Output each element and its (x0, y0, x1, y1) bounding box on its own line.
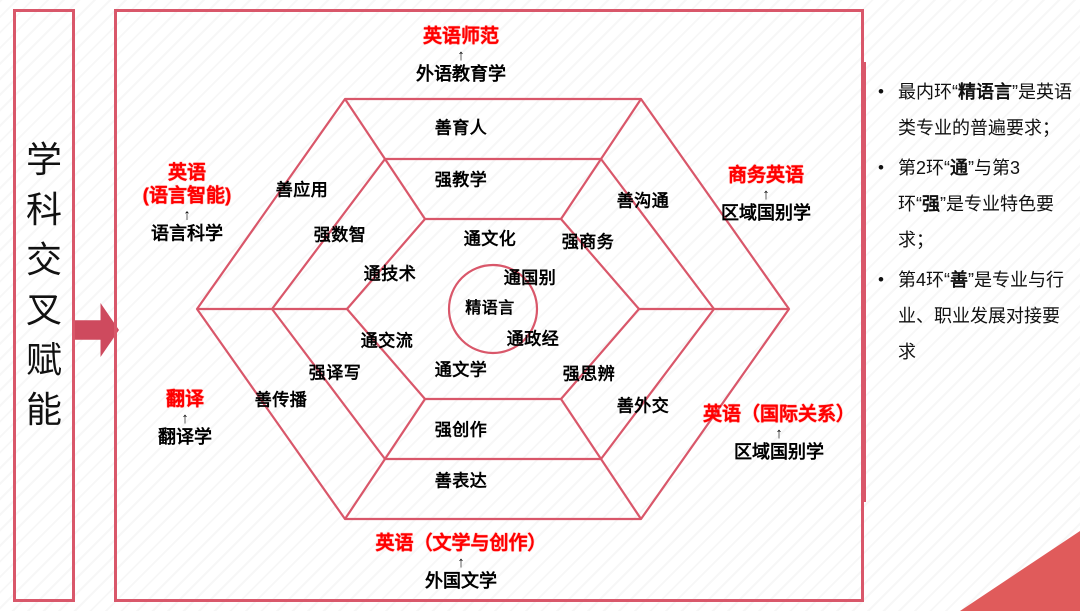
major-subtitle: 语言科学 (143, 223, 232, 245)
ring4-label-dissemination: 善传播 (255, 386, 308, 411)
major-title-line2: (语言智能) (143, 185, 232, 208)
notes-list: 最内环“精语言”是英语类专业的普遍要求；第2环“通”与第3环“强”是专业特色要求… (872, 74, 1072, 370)
left-panel-label: 学科交叉赋能 (16, 136, 72, 436)
ring-label-core: 精语言 (465, 294, 515, 318)
right-arrow-icon (75, 303, 119, 357)
up-arrow-icon: ↑ (143, 208, 232, 223)
ring2-label-technology: 通技术 (364, 260, 417, 285)
major-title: 翻译 (158, 388, 212, 411)
up-arrow-icon: ↑ (721, 187, 811, 202)
ring3-label-critical-thinking: 强思辨 (563, 360, 616, 385)
ring4-label-expression: 善表达 (435, 467, 488, 492)
corner-triangle-decoration (960, 531, 1080, 611)
note-item: 最内环“精语言”是英语类专业的普遍要求； (872, 74, 1072, 146)
note-text: 最内环“ (898, 82, 958, 102)
major-subtitle: 外国文学 (375, 570, 546, 592)
major-english-literature-writing: 英语（文学与创作） ↑ 外国文学 (375, 532, 546, 592)
major-title-line1: 英语 (143, 162, 232, 185)
major-subtitle: 翻译学 (158, 426, 212, 448)
ring4-label-communicate: 善沟通 (617, 187, 670, 212)
major-english-teaching: 英语师范 ↑ 外语教育学 (416, 25, 506, 85)
note-text: 第4环“ (898, 270, 950, 290)
major-title: 商务英语 (721, 164, 811, 187)
ring4-label-application: 善应用 (276, 176, 329, 201)
note-text: 第2环“ (898, 158, 950, 178)
major-title: 英语（国际关系） (703, 403, 855, 426)
left-panel-box: 学科交叉赋能 (13, 9, 75, 602)
notes-divider (864, 62, 866, 502)
up-arrow-icon: ↑ (703, 426, 855, 441)
note-emphasis: 强 (922, 194, 940, 214)
note-emphasis: 善 (950, 270, 968, 290)
ring4-label-diplomacy: 善外交 (617, 392, 670, 417)
major-english-intl-relations: 英语（国际关系） ↑ 区域国别学 (703, 403, 855, 463)
note-emphasis: 通 (950, 158, 968, 178)
major-business-english: 商务英语 ↑ 区域国别学 (721, 164, 811, 224)
up-arrow-icon: ↑ (416, 48, 506, 63)
major-subtitle: 区域国别学 (721, 202, 811, 224)
ring2-label-literature: 通文学 (435, 356, 488, 381)
major-subtitle: 外语教育学 (416, 63, 506, 85)
ring4-label-educate: 善育人 (435, 114, 488, 139)
note-emphasis: 精语言 (958, 82, 1012, 102)
up-arrow-icon: ↑ (375, 555, 546, 570)
ring2-label-communication: 通交流 (361, 327, 414, 352)
major-title: 英语（文学与创作） (375, 532, 546, 555)
ring2-label-politics: 通政经 (507, 325, 560, 350)
major-title: 英语师范 (416, 25, 506, 48)
ring3-label-digital-intelligence: 强数智 (314, 221, 367, 246)
ring3-label-teaching: 强教学 (435, 166, 488, 191)
ring3-label-translation-writing: 强译写 (309, 359, 362, 384)
ring2-label-country: 通国别 (504, 264, 557, 289)
ring3-label-creative-writing: 强创作 (435, 416, 488, 441)
slide-canvas: 学科交叉赋能 精语言 (0, 0, 1080, 611)
major-translation: 翻译 ↑ 翻译学 (158, 388, 212, 448)
notes-panel: 最内环“精语言”是英语类专业的普遍要求；第2环“通”与第3环“强”是专业特色要求… (872, 74, 1072, 374)
ring3-label-business: 强商务 (562, 228, 615, 253)
note-item: 第2环“通”与第3环“强”是专业特色要求； (872, 150, 1072, 258)
ring2-label-culture: 通文化 (464, 225, 517, 250)
major-subtitle: 区域国别学 (703, 441, 855, 463)
major-english-language-intelligence: 英语 (语言智能) ↑ 语言科学 (143, 162, 232, 245)
up-arrow-icon: ↑ (158, 411, 212, 426)
note-item: 第4环“善”是专业与行业、职业发展对接要求 (872, 262, 1072, 370)
